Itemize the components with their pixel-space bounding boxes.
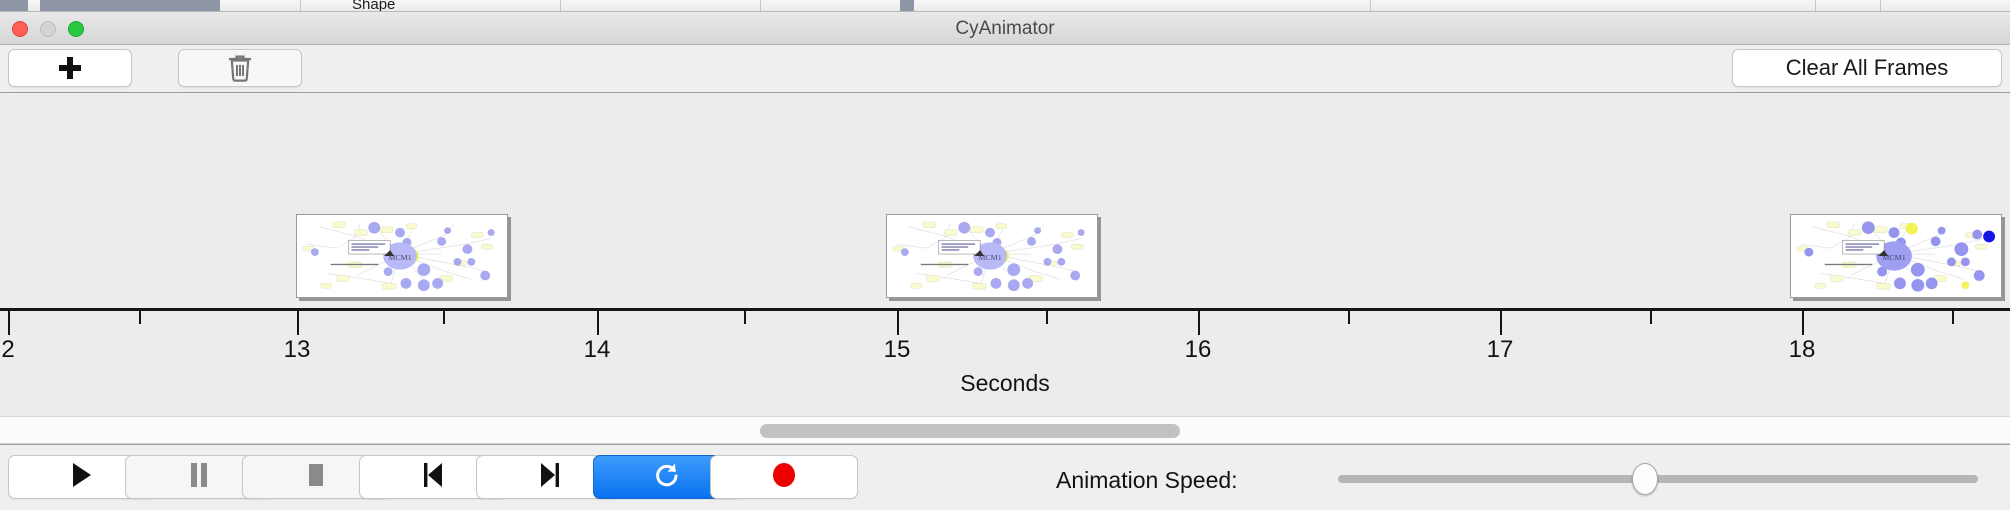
record-button[interactable] <box>710 455 858 499</box>
axis-tick-major <box>897 311 899 335</box>
keyframe-thumbnail-2[interactable]: MCM1 <box>886 214 1098 298</box>
cyanimator-window: Shape CyAnimator <box>0 0 2010 510</box>
stop-icon <box>305 462 327 493</box>
animation-speed-label: Animation Speed: <box>1056 467 1238 494</box>
keyframe-timeline[interactable]: MCM1 <box>0 93 2010 308</box>
axis-tick-major <box>597 311 599 335</box>
axis-tick-minor <box>443 311 445 324</box>
transport-bar: Animation Speed: <box>0 444 2010 510</box>
skip-back-icon <box>421 462 445 493</box>
axis-tick-label: 17 <box>1487 336 1514 364</box>
loop-icon <box>654 461 680 494</box>
axis-tick-label: 13 <box>284 336 311 364</box>
timeline-scrollbar[interactable] <box>0 416 2010 444</box>
keyframe-thumbnail-1[interactable]: MCM1 <box>296 214 508 298</box>
animation-speed-slider-thumb[interactable] <box>1632 463 1658 495</box>
axis-tick-minor <box>1348 311 1350 324</box>
axis-tick-label: 2 <box>1 336 14 364</box>
skip-forward-icon <box>538 462 562 493</box>
axis-tick-label: 14 <box>584 336 611 364</box>
timeline-axis: 2131415161718 Seconds <box>0 308 2010 416</box>
background-window-strip: Shape <box>0 0 2010 12</box>
keyframe-thumbnail-3[interactable]: MCM1 <box>1790 214 2002 298</box>
clear-all-frames-label: Clear All Frames <box>1786 55 1949 81</box>
plus-icon <box>57 55 83 81</box>
record-icon <box>771 462 797 493</box>
axis-tick-minor <box>1952 311 1954 324</box>
axis-line <box>0 308 2010 311</box>
axis-tick-minor <box>139 311 141 324</box>
window-title: CyAnimator <box>0 12 2010 45</box>
axis-tick-minor <box>1650 311 1652 324</box>
clear-all-frames-button[interactable]: Clear All Frames <box>1732 49 2002 87</box>
trash-icon <box>227 54 253 82</box>
axis-title: Seconds <box>0 370 2010 397</box>
axis-tick-label: 15 <box>884 336 911 364</box>
axis-tick-minor <box>744 311 746 324</box>
axis-tick-major <box>297 311 299 335</box>
title-bar: CyAnimator <box>0 12 2010 45</box>
frame-toolbar: Clear All Frames <box>0 45 2010 91</box>
axis-tick-major <box>1500 311 1502 335</box>
axis-tick-minor <box>1046 311 1048 324</box>
axis-tick-major <box>1198 311 1200 335</box>
pause-icon <box>188 462 210 493</box>
add-frame-button[interactable] <box>8 49 132 87</box>
scrollbar-thumb[interactable] <box>760 424 1180 438</box>
axis-tick-major <box>1802 311 1804 335</box>
axis-tick-major <box>8 311 10 335</box>
axis-tick-label: 16 <box>1185 336 1212 364</box>
axis-tick-label: 18 <box>1789 336 1816 364</box>
delete-frame-button[interactable] <box>178 49 302 87</box>
background-window-label: Shape <box>352 0 395 12</box>
play-icon <box>70 462 94 493</box>
